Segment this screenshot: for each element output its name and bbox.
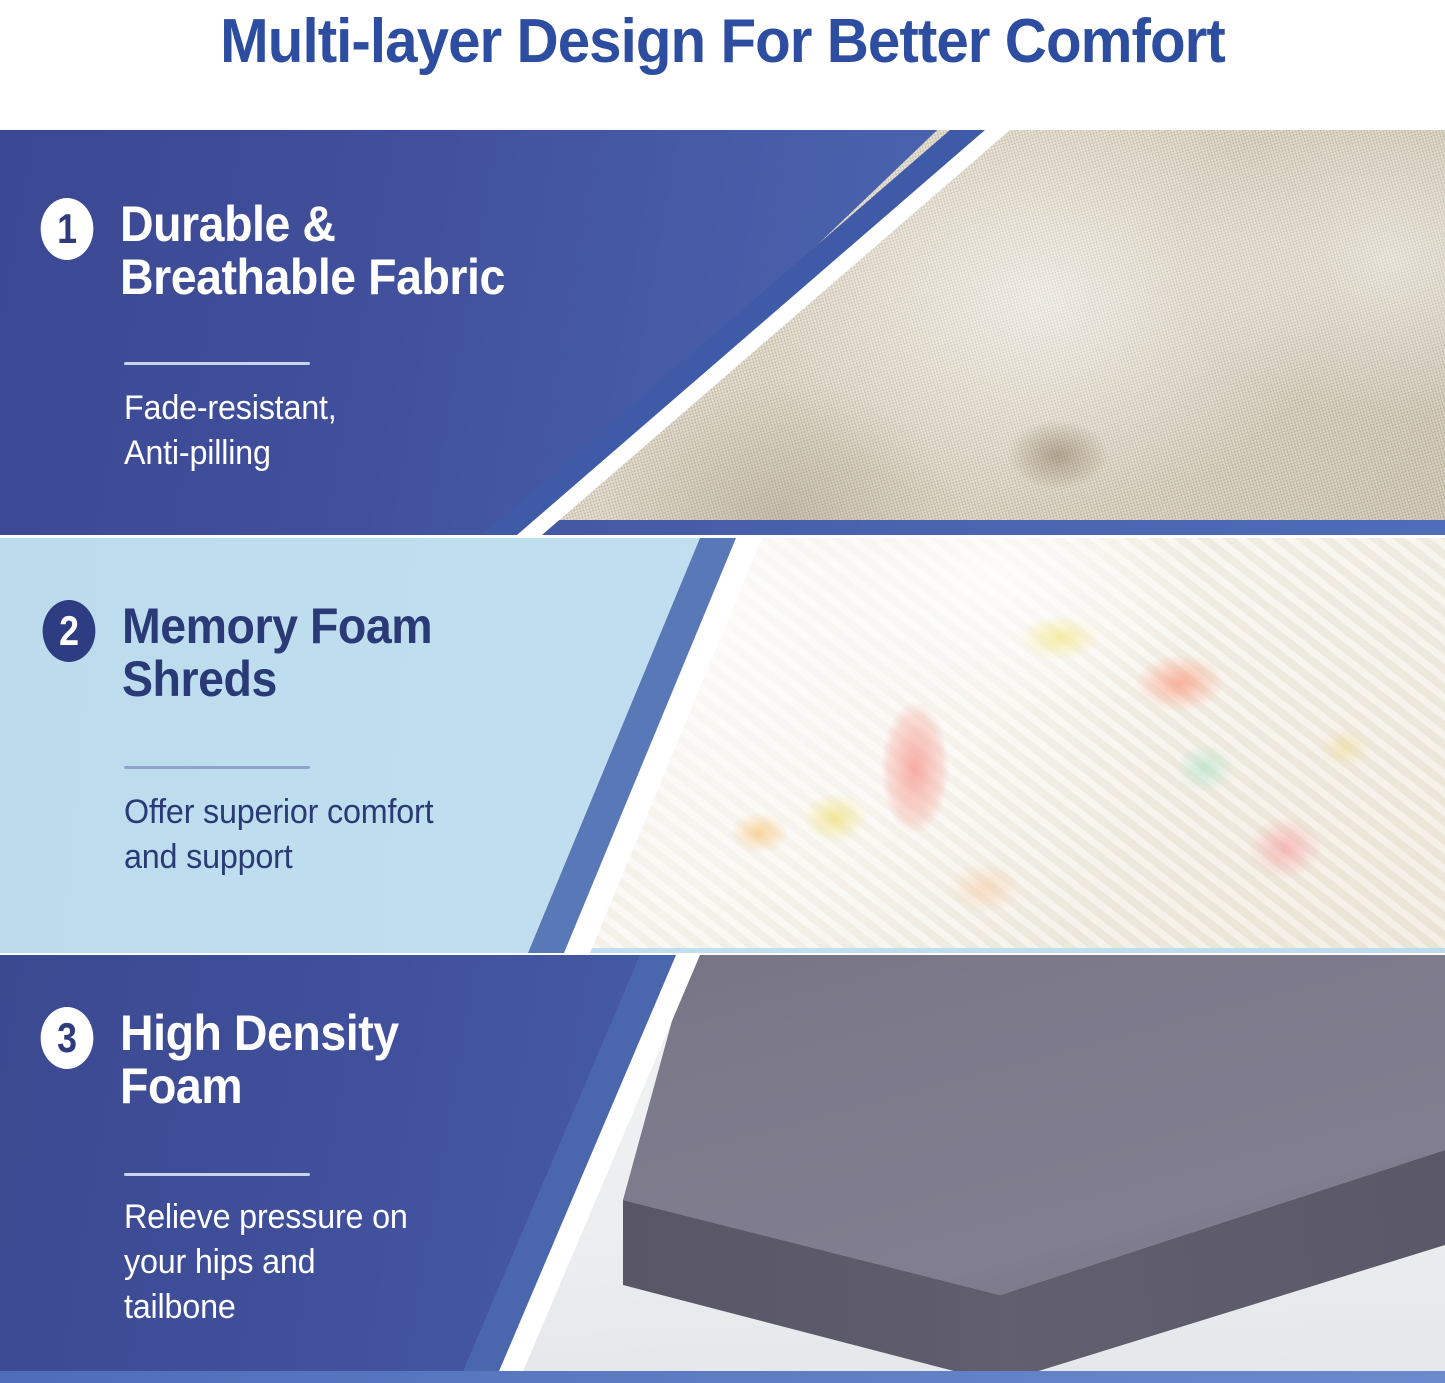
panel-3-bottom-band [0, 1371, 1445, 1383]
panel-2-content: 2 Memory Foam Shreds Offer superior comf… [36, 538, 596, 953]
feature-panel-2: 2 Memory Foam Shreds Offer superior comf… [0, 538, 1445, 953]
step-number-badge-1: 1 [41, 198, 94, 260]
page-title: Multi-layer Design For Better Comfort [43, 2, 1401, 80]
panel-2-heading: Memory Foam Shreds [122, 600, 432, 706]
panel-3-body: Relieve pressure on your hips and tailbo… [124, 1195, 571, 1330]
step-number-badge-3: 3 [41, 1007, 94, 1069]
panel-3-content: 3 High Density Foam Relieve pressure on … [36, 955, 596, 1383]
feature-panel-1: 1 Durable & Breathable Fabric Fade-resis… [0, 130, 1445, 535]
panel-2-heading-row: 2 Memory Foam Shreds [38, 600, 455, 706]
panel-2-body: Offer superior comfort and support [124, 790, 580, 880]
panel-1-content: 1 Durable & Breathable Fabric Fade-resis… [36, 130, 596, 535]
infographic-canvas: Multi-layer Design For Better Comfort 1 … [0, 0, 1445, 1383]
panel-2-divider [124, 766, 310, 769]
panel-3-divider [124, 1173, 310, 1176]
panel-1-divider [124, 362, 310, 365]
panel-1-heading-row: 1 Durable & Breathable Fabric [36, 198, 534, 304]
panel-1-heading: Durable & Breathable Fabric [120, 198, 505, 304]
feature-panel-3: 3 High Density Foam Relieve pressure on … [0, 955, 1445, 1383]
step-number-badge-2: 2 [43, 600, 96, 662]
panel-3-heading-row: 3 High Density Foam [36, 1007, 420, 1113]
panel-1-body: Fade-resistant, Anti-pilling [124, 386, 571, 476]
panel-3-heading: High Density Foam [120, 1007, 399, 1113]
